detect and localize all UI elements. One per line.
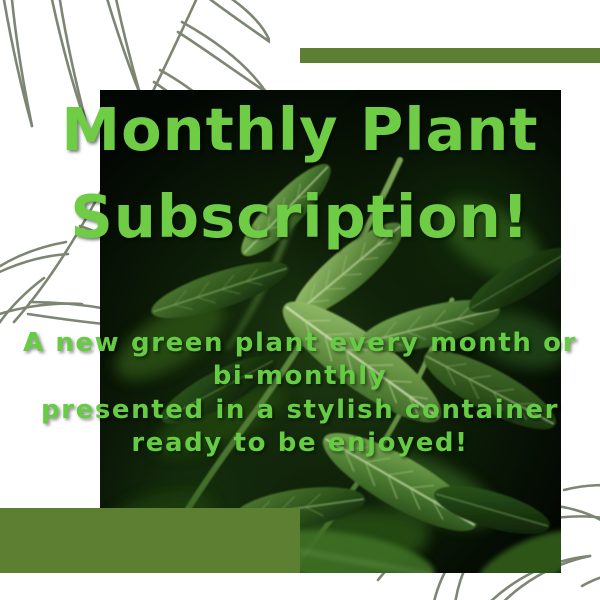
body-copy-line-3: presented in a stylish container (0, 394, 600, 427)
olive-accent-block-bottom (0, 508, 300, 573)
headline-line-2: Subscription! (0, 187, 600, 246)
olive-accent-bar-top (300, 48, 600, 63)
headline-line-1: Monthly Plant (0, 100, 600, 159)
body-copy-line-2: bi-monthly (0, 360, 600, 393)
body-copy: A new green plant every month or bi-mont… (0, 327, 600, 460)
body-copy-line-4: ready to be enjoyed! (0, 427, 600, 460)
poster-canvas: Monthly Plant Subscription! A new green … (0, 0, 600, 600)
body-copy-line-1: A new green plant every month or (0, 327, 600, 360)
